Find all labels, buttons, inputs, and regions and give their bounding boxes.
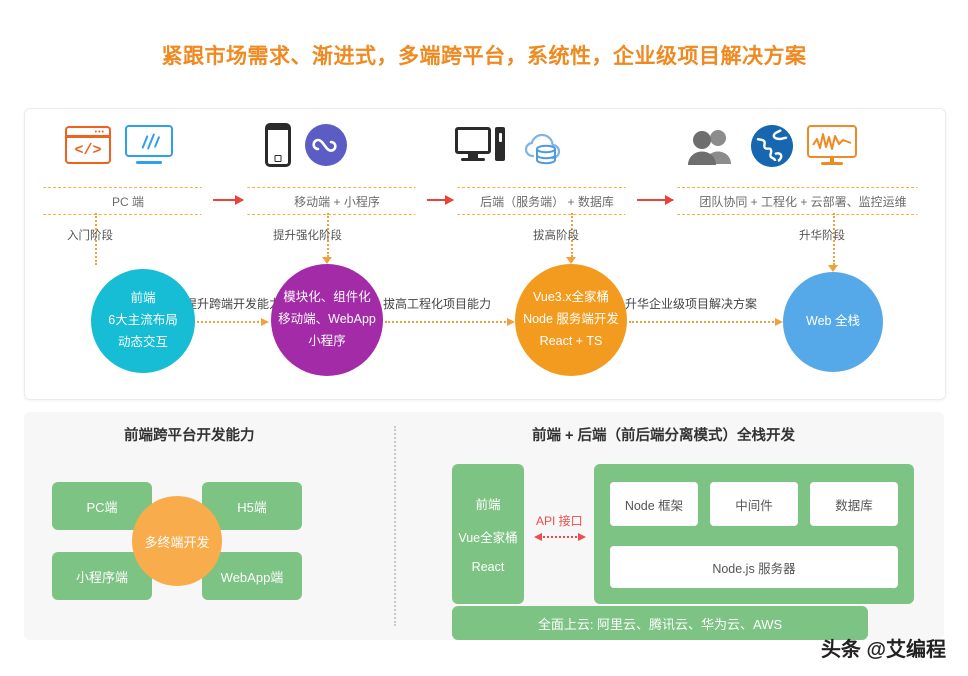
- cloud-database-icon: [519, 125, 573, 169]
- panel-divider: [394, 426, 396, 626]
- frontend-line-1: 前端: [475, 494, 500, 513]
- circle-1-line-3: 动态交互: [118, 332, 168, 354]
- flow-arrow-2-icon: [427, 199, 453, 201]
- flow-banner-mobile[interactable]: 移动端 + 小程序: [247, 187, 427, 215]
- circle-connector-3-icon: [629, 321, 781, 323]
- banner-row: PC 端 移动端 + 小程序 后端（服务端） + 数据库 团队协同 + 工程化 …: [25, 187, 945, 215]
- circle-1-line-1: 前端: [130, 288, 155, 310]
- circle-3-line-3: React + TS: [540, 331, 603, 353]
- watermark: 头条 @艾编程: [821, 633, 946, 662]
- bottom-right-title: 前端 + 后端（前后端分离模式）全栈开发: [532, 424, 795, 445]
- mini-program-icon: [305, 124, 347, 166]
- monitoring-chart-icon: [807, 125, 857, 167]
- circle-2-line-3: 小程序: [308, 331, 346, 353]
- desktop-pc-icon: [455, 127, 505, 167]
- circle-connector-2-icon: [385, 321, 513, 323]
- backend-box-middleware[interactable]: 中间件: [710, 482, 798, 526]
- frontend-line-3: React: [472, 560, 505, 574]
- stage-label-4: 升华阶段: [799, 227, 845, 243]
- roadmap-circle-frontend[interactable]: 前端 6大主流布局 动态交互: [91, 269, 195, 373]
- roadmap-circle-fullstack-tools[interactable]: Vue3.x全家桶 Node 服务端开发 React + TS: [515, 264, 627, 376]
- monitor-icon: [125, 125, 173, 165]
- frontend-column[interactable]: 前端 Vue全家桶 React: [452, 464, 524, 604]
- cloud-bar[interactable]: 全面上云: 阿里云、腾讯云、华为云、AWS: [452, 606, 868, 640]
- icon-group-mobile: [265, 123, 347, 167]
- flow-arrow-3-icon: [637, 199, 673, 201]
- stage-label-2: 提升强化阶段: [273, 227, 342, 243]
- circle-connector-label-2: 拔高工程化项目能力: [383, 295, 491, 312]
- flow-banner-ops[interactable]: 团队协同 + 工程化 + 云部署、监控运维: [677, 187, 929, 215]
- frontend-line-2: Vue全家桶: [458, 527, 517, 546]
- circle-connector-1-icon: [197, 321, 267, 323]
- flow-banner-pc[interactable]: PC 端: [43, 187, 213, 215]
- code-window-icon: •••</>: [65, 126, 111, 164]
- roadmap-circle-modular[interactable]: 模块化、组件化 移动端、WebApp 小程序: [271, 264, 383, 376]
- circle-3-line-2: Node 服务端开发: [523, 309, 619, 331]
- circle-connector-label-1: 提升跨端开发能力: [185, 295, 281, 312]
- stage-tick-3-icon: [566, 257, 576, 264]
- circle-1-line-2: 6大主流布局: [108, 310, 177, 332]
- bottom-left-title: 前端跨平台开发能力: [124, 424, 255, 445]
- roadmap-circle-web-fullstack[interactable]: Web 全栈: [783, 272, 883, 372]
- backend-column: Node 框架 中间件 数据库 Node.js 服务器: [594, 464, 914, 604]
- icon-group-ops: [685, 125, 857, 167]
- stage-tick-4-icon: [828, 265, 838, 272]
- slide-canvas: 紧跟市场需求、渐进式，多端跨平台，系统性，企业级项目解决方案 •••</>: [0, 0, 968, 676]
- icon-group-pc: •••</>: [65, 125, 173, 165]
- flow-arrow-1-icon: [213, 199, 243, 201]
- icon-group-backend: [455, 125, 573, 169]
- mobile-phone-icon: [265, 123, 291, 167]
- roadmap-card: •••</>: [24, 108, 946, 400]
- circle-3-line-1: Vue3.x全家桶: [533, 287, 609, 309]
- multi-terminal-circle[interactable]: 多终端开发: [132, 496, 222, 586]
- team-users-icon: [685, 126, 737, 166]
- page-title: 紧跟市场需求、渐进式，多端跨平台，系统性，企业级项目解决方案: [0, 40, 968, 70]
- circle-2-line-2: 移动端、WebApp: [278, 309, 376, 331]
- stage-label-3: 拔高阶段: [533, 227, 579, 243]
- globe-icon: [751, 125, 793, 167]
- flow-banner-backend[interactable]: 后端（服务端） + 数据库: [457, 187, 637, 215]
- circle-4-line-1: Web 全栈: [806, 311, 860, 333]
- api-label: API 接口: [536, 512, 583, 529]
- icon-row: •••</>: [25, 123, 945, 185]
- circle-2-line-1: 模块化、组件化: [283, 287, 371, 309]
- stage-label-1: 入门阶段: [67, 227, 113, 243]
- stage-tick-2-icon: [322, 257, 332, 264]
- api-connector-icon: [536, 536, 584, 538]
- backend-box-nodejs-server[interactable]: Node.js 服务器: [610, 546, 898, 588]
- backend-box-node-framework[interactable]: Node 框架: [610, 482, 698, 526]
- circle-connector-label-3: 升华企业级项目解决方案: [625, 295, 757, 312]
- backend-box-database[interactable]: 数据库: [810, 482, 898, 526]
